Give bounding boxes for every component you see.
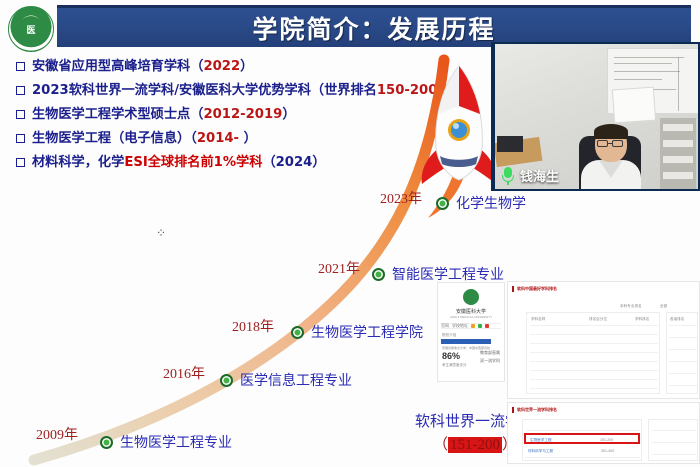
milestone-label: 化学生物学 <box>456 193 526 213</box>
thumbnail-subheader-right: 各省排名 <box>670 317 684 322</box>
glasses-right-lens <box>612 140 623 147</box>
thumbnail-right-notes: 教育部直属 双一流学科 <box>480 349 500 365</box>
divider <box>652 454 696 455</box>
sticky-note <box>612 87 656 124</box>
milestone-marker-dot <box>291 326 304 339</box>
milestone-year: 2016年 <box>163 363 205 383</box>
thumbnail-subheader-1: 学科名称 <box>531 317 545 322</box>
thumbnail-subheader-2: 排名百分位 <box>589 317 607 322</box>
divider <box>669 385 697 386</box>
participant-name-overlay: 钱海生 <box>501 166 559 185</box>
thumbnail-section-heading-2: 软科世界一流学科排名 <box>517 407 557 413</box>
milestone-marker-dot <box>436 197 449 210</box>
thumbnail-table-right-panel: 各省排名 <box>666 312 698 394</box>
thumbnail-meta-label: 官网 <box>441 323 449 329</box>
divider <box>669 361 697 362</box>
thumbnail-percent-label: 考生满意度评分 <box>442 363 467 368</box>
milestone-2021: 2021年 <box>318 258 366 278</box>
milestone-2016: 2016年 <box>163 363 211 383</box>
thumbnail-column-header-2: 全部 <box>660 304 667 309</box>
thumbnail-table-left-panel: 学科名称 排名百分位 学科排名 <box>526 312 660 394</box>
bookshelf <box>660 118 696 189</box>
slide-canvas: 医 学院简介：发展历程 安徽省应用型高峰培育学科（2022） 2023软科世界一… <box>0 0 700 467</box>
weibo-chip-icon <box>485 324 489 328</box>
milestone-2009-label-group: 生物医学工程专业 <box>100 432 232 452</box>
milestone-label: 生物医学工程专业 <box>120 432 232 452</box>
divider <box>530 370 658 371</box>
divider <box>669 337 697 338</box>
milestone-2018: 2018年 <box>232 316 280 336</box>
thumbnail-title: 安徽医科大学 <box>438 308 504 315</box>
thumbnail-meta-label2: 学校地址 <box>452 323 468 329</box>
thumbnail-subheader-3: 学科排名 <box>635 317 649 322</box>
divider <box>530 379 658 380</box>
microphone-icon <box>501 167 515 185</box>
divider <box>669 373 697 374</box>
share-chip-icon <box>471 324 475 328</box>
divider <box>530 361 658 362</box>
video-participant-tile[interactable]: 钱海生 <box>491 42 700 191</box>
milestone-2018-label-group: 生物医学工程学院 <box>291 322 423 342</box>
divider <box>530 352 658 353</box>
milestone-marker-dot <box>220 374 233 387</box>
thumbnail-section-heading: 软科中国最好学科排名 <box>517 286 557 292</box>
divider <box>669 349 697 350</box>
divider <box>669 325 697 326</box>
highlight-row-name: 生物医学工程 <box>530 438 552 443</box>
table-row-rank-2: 301-400 <box>601 449 614 453</box>
thumbnail-note-1: 教育部直属 <box>480 349 500 357</box>
thumbnail-column-header-1: 本科专业排名 <box>620 304 642 309</box>
milestone-year: 2023年 <box>380 188 422 208</box>
world-ranking-table-thumbnail[interactable]: 软科世界一流学科排名 生物医学工程 151-200 材料科学与工程 301-40… <box>507 402 700 464</box>
thumbnail-percent: 86% <box>442 351 460 361</box>
milestone-label: 智能医学工程专业 <box>392 264 504 284</box>
university-logo-icon <box>463 289 479 305</box>
divider <box>530 325 658 326</box>
person-hair <box>594 124 628 139</box>
milestone-year: 2021年 <box>318 258 360 278</box>
section-marker-icon <box>512 286 514 292</box>
divider <box>530 334 658 335</box>
milestone-2023: 2023年 <box>380 188 428 208</box>
thumbnail-meta-row: 官网 学校地址 <box>441 323 501 329</box>
discipline-ranking-table-thumbnail[interactable]: 软科中国最好学科排名 本科专业排名 全部 学科名称 排名百分位 学科排名 各省排… <box>507 281 700 399</box>
mouse-cursor: ⁘ <box>156 227 166 240</box>
milestone-2023-label-group: 化学生物学 <box>436 193 526 213</box>
thumbnail-table2-right-panel <box>648 419 698 461</box>
section-marker-icon <box>512 407 514 413</box>
monitor <box>497 136 523 152</box>
glasses-bridge <box>608 143 612 144</box>
milestone-2021-label-group: 智能医学工程专业 <box>372 264 504 284</box>
milestone-year: 2018年 <box>232 316 274 336</box>
divider <box>526 457 640 458</box>
divider <box>526 430 640 431</box>
milestone-label: 医学信息工程专业 <box>240 370 352 390</box>
glasses-left-lens <box>597 140 608 147</box>
thumbnail-tag-bar <box>441 339 491 344</box>
divider <box>530 343 658 344</box>
milestone-marker-dot <box>372 268 385 281</box>
university-card-thumbnail[interactable]: 安徽医科大学 ANHUI MEDICAL UNIVERSITY 官网 学校地址 … <box>437 282 505 382</box>
thumbnail-note-2: 双一流学科 <box>480 357 500 365</box>
highlight-row-rank: 151-200 <box>600 438 613 442</box>
milestone-2016-label-group: 医学信息工程专业 <box>220 370 352 390</box>
highlighted-table-row: 生物医学工程 151-200 <box>524 433 640 444</box>
milestone-label: 生物医学工程学院 <box>311 322 423 342</box>
divider <box>652 442 696 443</box>
video-feed: 钱海生 <box>495 44 698 189</box>
milestone-2009: 2009年 <box>36 424 84 444</box>
divider <box>530 388 658 389</box>
thumbnail-subtitle: ANHUI MEDICAL UNIVERSITY <box>438 315 504 319</box>
thumbnail-tag: 院校介绍 <box>442 333 456 338</box>
milestone-year: 2009年 <box>36 424 78 444</box>
milestone-marker-dot <box>100 436 113 449</box>
wechat-chip-icon <box>478 324 482 328</box>
table-row-name-2: 材料科学与工程 <box>528 449 553 454</box>
thumbnail-table2-left-panel: 生物医学工程 151-200 材料科学与工程 301-400 <box>522 419 642 461</box>
participant-name: 钱海生 <box>520 166 559 185</box>
divider <box>652 430 696 431</box>
